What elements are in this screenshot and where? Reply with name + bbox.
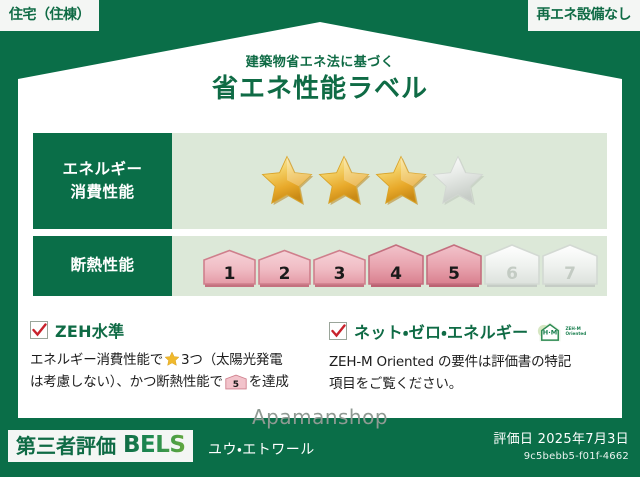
footer-bar: 第三者評価 BELS ユウ・エトワール 評価日 2025年7月3日 9c5beb…: [0, 424, 640, 477]
zeh-standard-title: ZEH水準: [55, 318, 124, 342]
energy-performance-value: [172, 133, 607, 229]
net-zero-body-line2: 項目をご覧ください。: [329, 376, 462, 392]
check-icon: [331, 324, 346, 339]
insulation-label-line1: 断熱性能: [70, 254, 134, 277]
third-party-evaluation-label: 第三者評価: [16, 436, 116, 456]
zeh-body-part3: は考慮しない）、かつ断熱性能で: [30, 374, 223, 390]
insulation-grade-7: 7: [541, 243, 599, 289]
zehm-house-text: H·M: [543, 328, 557, 336]
energy-label-line2: 消費性能: [70, 181, 134, 204]
insulation-grade-4-number: 4: [367, 266, 425, 283]
net-zero-energy-note: ネット・ゼロ・エネルギー H·M ZEH-M Oriented ZEH-M Or…: [321, 318, 612, 396]
building-type-tag: 住宅（住棟）: [0, 0, 99, 31]
star-rating: [259, 153, 486, 209]
star-icon-filled-1: [259, 153, 315, 209]
insulation-grade-7-number: 7: [541, 266, 599, 283]
insulation-grade-6: 6: [483, 243, 541, 289]
insulation-grade-2-number: 2: [257, 266, 312, 283]
zeh-body-part1: エネルギー消費性能で: [30, 352, 163, 368]
insulation-performance-value: 1 2 3: [172, 236, 607, 296]
builder-name: ユウ・エトワール: [208, 439, 315, 459]
title-main: 省エネ性能ラベル: [0, 73, 640, 106]
star-icon-empty-4: [430, 153, 486, 209]
insulation-grade-1-number: 1: [202, 266, 257, 283]
inline-grade-number: 5: [225, 381, 247, 390]
footer-meta: 評価日 2025年7月3日 9c5bebb5-f01f-4662: [493, 432, 629, 462]
insulation-grade-6-number: 6: [483, 266, 541, 283]
zehm-house-icon: H·M: [537, 318, 563, 344]
star-icon-filled-2: [316, 153, 372, 209]
insulation-performance-row: 断熱性能: [33, 236, 607, 296]
renewable-energy-tag: 再エネ設備なし: [528, 0, 640, 31]
insulation-grade-3: 3: [312, 249, 367, 289]
insulation-grade-scale: 1 2 3: [202, 243, 599, 289]
zeh-standard-note: ZEH水準 エネルギー消費性能で 3つ（太陽光発電 は考慮しない）、かつ断熱性能…: [30, 318, 321, 396]
zeh-standard-body: エネルギー消費性能で 3つ（太陽光発電 は考慮しない）、かつ断熱性能で 5 を達…: [30, 350, 311, 394]
net-zero-energy-title: ネット・ゼロ・エネルギー: [354, 319, 528, 343]
star-icon-filled-3: [373, 153, 429, 209]
zehm-oriented-badge: H·M ZEH-M Oriented: [537, 318, 586, 344]
net-zero-energy-checkbox: [329, 322, 347, 340]
title-subtitle: 建築物省エネ法に基づく: [0, 56, 640, 70]
label-title-block: 建築物省エネ法に基づく 省エネ性能ラベル: [0, 56, 640, 106]
energy-label-root: 住宅（住棟） 再エネ設備なし 建築物省エネ法に基づく 省エネ性能ラベル エネルギ…: [0, 0, 640, 477]
insulation-grade-5: 5: [425, 243, 483, 289]
zehm-badge-line2: Oriented: [565, 331, 586, 336]
zeh-body-part2: 3つ（太陽光発電: [181, 352, 283, 368]
check-icon: [32, 323, 47, 338]
energy-performance-row: エネルギー 消費性能: [33, 133, 607, 229]
insulation-grade-5-number: 5: [425, 266, 483, 283]
inline-grade-badge: 5: [225, 374, 247, 391]
net-zero-energy-heading: ネット・ゼロ・エネルギー H·M ZEH-M Oriented: [329, 318, 602, 344]
performance-rows: エネルギー 消費性能: [33, 133, 607, 296]
zeh-body-part4: を達成: [249, 374, 289, 390]
insulation-performance-label: 断熱性能: [33, 236, 172, 296]
bels-plate: 第三者評価 BELS: [8, 430, 193, 462]
insulation-grade-4: 4: [367, 243, 425, 289]
zeh-standard-heading: ZEH水準: [30, 318, 311, 342]
bels-logo: BELS: [123, 434, 185, 457]
net-zero-body-line1: ZEH-M Oriented の要件は評価書の特記: [329, 354, 571, 370]
insulation-grade-1: 1: [202, 249, 257, 289]
energy-performance-label: エネルギー 消費性能: [33, 133, 172, 229]
energy-label-line1: エネルギー: [62, 158, 142, 181]
insulation-grade-2: 2: [257, 249, 312, 289]
evaluation-date: 評価日 2025年7月3日: [493, 432, 629, 449]
net-zero-energy-body: ZEH-M Oriented の要件は評価書の特記 項目をご覧ください。: [329, 352, 602, 396]
insulation-grade-3-number: 3: [312, 266, 367, 283]
evaluation-id: 9c5bebb5-f01f-4662: [493, 451, 629, 462]
notes-section: ZEH水準 エネルギー消費性能で 3つ（太陽光発電 は考慮しない）、かつ断熱性能…: [30, 318, 612, 396]
zeh-standard-checkbox: [30, 321, 48, 339]
inline-star-icon: [164, 351, 180, 367]
